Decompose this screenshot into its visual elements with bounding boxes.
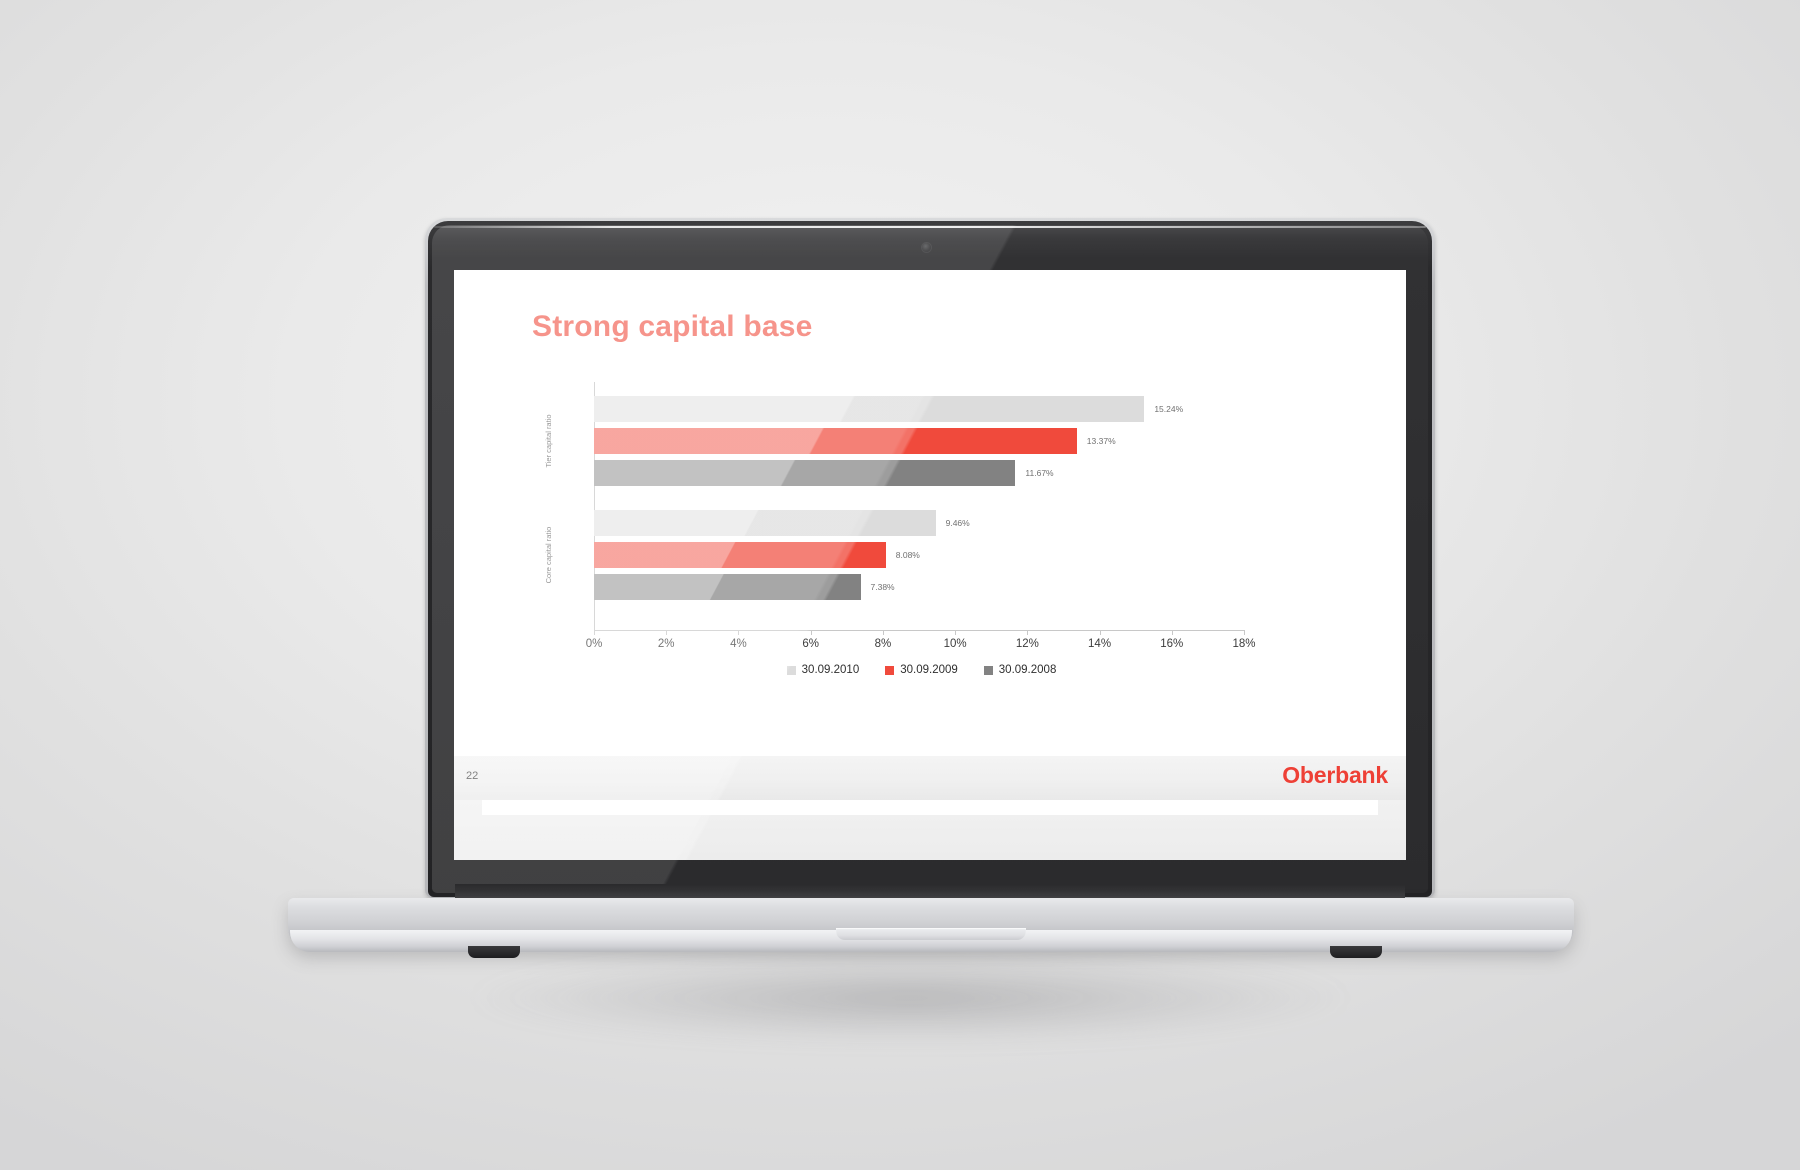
laptop-mockup: Strong capital base 0%2%4%6%8%10%12%14%1… xyxy=(0,0,1800,1170)
bar-30-09-2010: 9.46% xyxy=(594,510,936,536)
x-tick xyxy=(666,630,667,635)
x-tick-label: 18% xyxy=(1232,638,1255,650)
legend-swatch-icon xyxy=(787,666,796,675)
bar-value-label: 9.46% xyxy=(946,518,970,528)
bar-value-label: 15.24% xyxy=(1154,404,1183,414)
x-tick xyxy=(1027,630,1028,635)
brand-logo: Oberbank xyxy=(1282,762,1388,789)
bar-30-09-2008: 11.67% xyxy=(594,460,1015,486)
laptop-foot-right xyxy=(1330,946,1382,958)
legend-label: 30.09.2010 xyxy=(802,664,860,676)
bar-fill xyxy=(594,428,1077,454)
x-tick xyxy=(883,630,884,635)
webcam-icon xyxy=(922,243,931,252)
legend-swatch-icon xyxy=(984,666,993,675)
bar-fill xyxy=(594,396,1144,422)
legend-label: 30.09.2008 xyxy=(999,664,1057,676)
page-title: Strong capital base xyxy=(532,310,813,344)
bar-value-label: 8.08% xyxy=(896,550,920,560)
legend-item[interactable]: 30.09.2010 xyxy=(787,664,860,676)
x-tick xyxy=(738,630,739,635)
bar-value-label: 7.38% xyxy=(871,582,895,592)
category-label: Core capital ratio xyxy=(544,510,553,600)
x-tick xyxy=(811,630,812,635)
bar-value-label: 11.67% xyxy=(1025,468,1053,478)
bar-30-09-2009: 13.37% xyxy=(594,428,1077,454)
legend-item[interactable]: 30.09.2008 xyxy=(984,664,1057,676)
capital-ratio-bar-chart: 0%2%4%6%8%10%12%14%16%18% 15.24%13.37%11… xyxy=(532,382,1252,682)
legend-swatch-icon xyxy=(885,666,894,675)
category-label: Tier capital ratio xyxy=(544,396,553,486)
x-tick-label: 8% xyxy=(875,638,892,650)
laptop-foot-left xyxy=(468,946,520,958)
x-tick-label: 4% xyxy=(730,638,747,650)
slide-footer xyxy=(454,756,1406,800)
x-tick-label: 10% xyxy=(944,638,967,650)
chart-x-axis xyxy=(594,630,1244,631)
x-tick-label: 14% xyxy=(1088,638,1111,650)
x-tick-label: 2% xyxy=(658,638,675,650)
laptop-screen: Strong capital base 0%2%4%6%8%10%12%14%1… xyxy=(454,270,1406,860)
presentation-slide: Strong capital base 0%2%4%6%8%10%12%14%1… xyxy=(454,270,1406,860)
laptop-base-notch xyxy=(836,928,1026,940)
page-number: 22 xyxy=(466,770,478,782)
x-tick-label: 0% xyxy=(586,638,603,650)
bar-fill xyxy=(594,542,886,568)
bar-30-09-2009: 8.08% xyxy=(594,542,886,568)
x-tick-label: 12% xyxy=(1016,638,1039,650)
chart-legend: 30.09.201030.09.200930.09.2008 xyxy=(594,664,1249,676)
x-tick xyxy=(1172,630,1173,635)
x-tick xyxy=(1100,630,1101,635)
x-tick xyxy=(1244,630,1245,635)
bar-30-09-2010: 15.24% xyxy=(594,396,1144,422)
x-tick xyxy=(955,630,956,635)
bar-fill xyxy=(594,460,1015,486)
legend-item[interactable]: 30.09.2009 xyxy=(885,664,958,676)
x-tick-label: 16% xyxy=(1160,638,1183,650)
bar-fill xyxy=(594,574,861,600)
bar-value-label: 13.37% xyxy=(1087,436,1116,446)
bar-fill xyxy=(594,510,936,536)
bezel-highlight xyxy=(434,226,1426,228)
x-tick-label: 6% xyxy=(802,638,819,650)
x-tick xyxy=(594,630,595,635)
bar-30-09-2008: 7.38% xyxy=(594,574,861,600)
legend-label: 30.09.2009 xyxy=(900,664,958,676)
